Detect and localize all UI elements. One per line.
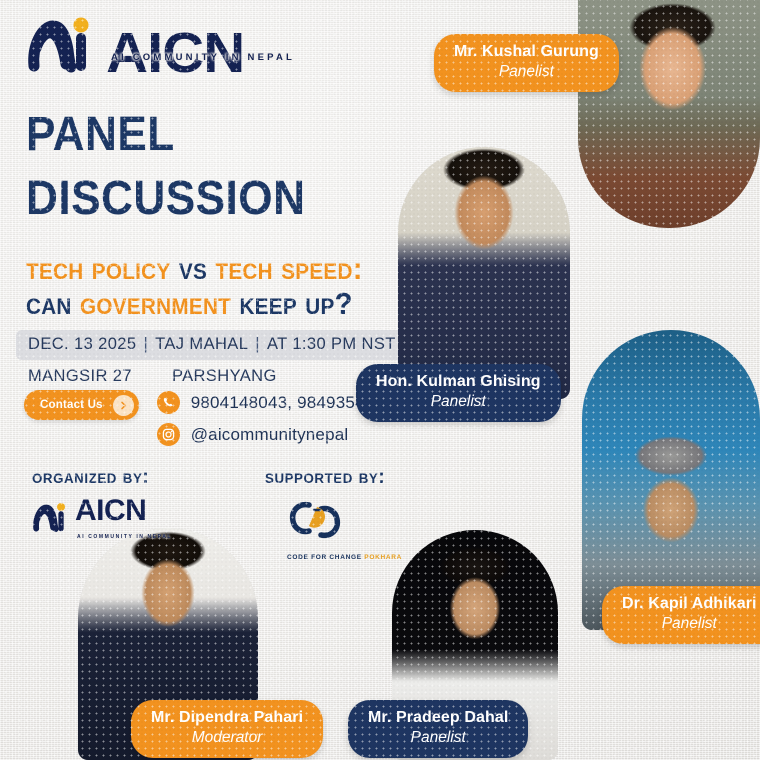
person-name: Mr. Pradeep Dahal — [368, 709, 508, 728]
aicn-ai-swoosh-icon — [26, 14, 98, 76]
event-locality: PARSHYANG — [172, 367, 277, 386]
subtitle-line-1: Tech Policy vs Tech Speed: — [26, 252, 363, 287]
photo-kapil-adhikari — [582, 330, 760, 630]
person-name: Mr. Dipendra Pahari — [151, 709, 303, 728]
supporter-logo: CODE FOR CHANGE POKHARA — [287, 495, 402, 561]
phone-icon — [157, 391, 180, 414]
photo-kushal-gurung — [578, 0, 760, 228]
supported-by-section: Supported By: CODE FOR CHANGE POKHARA — [265, 466, 402, 561]
event-poster: AICN AI COMMUNITY IN NEPAL Panel Discuss… — [0, 0, 760, 760]
title-line-2: Discussion — [26, 162, 305, 222]
event-nepali-date: MANGSIR 27 — [28, 367, 132, 386]
contact-section: Contact Us 9804148043, 9849354809 — [24, 390, 394, 446]
event-details-pill: DEC. 13 2025|TAJ MAHAL|AT 1:30 PM NST — [16, 330, 408, 360]
details-separator-1: | — [136, 335, 155, 353]
subtitle-can: Can — [26, 286, 80, 321]
subtitle-government: Government — [80, 286, 231, 321]
person-role: Panelist — [622, 615, 757, 633]
page-title: Panel Discussion — [26, 98, 330, 222]
organizer-name: AICN — [75, 494, 146, 527]
subtitle-line-2: Can Government Keep Up? — [26, 287, 363, 322]
aicn-logo: AICN AI COMMUNITY IN NEPAL — [26, 14, 295, 76]
name-badge-pradeep-dahal: Mr. Pradeep Dahal Panelist — [348, 700, 528, 758]
person-name: Mr. Kushal Gurung — [454, 43, 599, 62]
organized-by-label: Organized By: — [32, 466, 165, 489]
organizer-logo: AICN AI COMMUNITY IN NEPAL — [32, 497, 172, 543]
instagram-icon — [157, 423, 180, 446]
supporter-logo-text: CODE FOR CHANGE POKHARA — [287, 554, 402, 561]
person-name: Dr. Kapil Adhikari — [622, 595, 757, 614]
supported-by-label: Supported By: — [265, 466, 395, 489]
person-role: Panelist — [454, 63, 599, 81]
event-date: DEC. 13 2025 — [28, 335, 136, 353]
contact-us-button[interactable]: Contact Us — [24, 390, 139, 420]
person-name: Hon. Kulman Ghising — [376, 373, 541, 392]
event-details-secondary: MANGSIR 27 PARSHYANG — [28, 367, 408, 386]
subtitle-vs: vs — [179, 251, 207, 286]
person-role: Panelist — [376, 393, 541, 411]
chevron-right-icon — [113, 395, 134, 416]
name-badge-dipendra-pahari: Mr. Dipendra Pahari Moderator — [131, 700, 323, 758]
subtitle-keep-up: Keep Up? — [231, 286, 353, 321]
details-separator-2: | — [248, 335, 267, 353]
code-for-change-icon — [287, 532, 343, 549]
person-role: Moderator — [151, 729, 303, 747]
subtitle-tech-policy: Tech Policy — [26, 251, 179, 286]
contact-instagram-row[interactable]: @aicommunitynepal — [157, 423, 394, 446]
name-badge-kapil-adhikari: Dr. Kapil Adhikari Panelist — [602, 586, 760, 644]
contact-instagram: @aicommunitynepal — [191, 425, 349, 445]
subtitle-tech-speed: Tech Speed: — [207, 251, 363, 286]
contact-us-label: Contact Us — [40, 399, 103, 411]
name-badge-kushal-gurung: Mr. Kushal Gurung Panelist — [434, 34, 619, 92]
event-details: DEC. 13 2025|TAJ MAHAL|AT 1:30 PM NST MA… — [16, 330, 408, 386]
brand-tagline: AI COMMUNITY IN NEPAL — [111, 52, 295, 63]
aicn-ai-swoosh-icon-small — [32, 501, 70, 539]
supporter-text-a: CODE FOR CHANGE — [287, 554, 364, 561]
person-role: Panelist — [368, 729, 508, 747]
event-time: AT 1:30 PM NST — [267, 335, 396, 353]
name-badge-kulman-ghising: Hon. Kulman Ghising Panelist — [356, 364, 561, 422]
event-venue: TAJ MAHAL — [155, 335, 248, 353]
event-subtitle: Tech Policy vs Tech Speed: Can Governmen… — [26, 252, 384, 321]
title-line-1: Panel — [26, 98, 305, 158]
photo-kulman-ghising — [398, 147, 570, 399]
organizer-tagline: AI COMMUNITY IN NEPAL — [77, 534, 172, 540]
